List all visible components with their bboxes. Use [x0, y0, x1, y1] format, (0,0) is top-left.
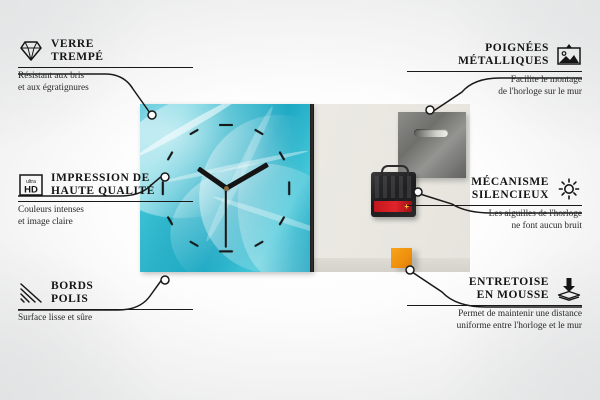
callout-header: ultra HD IMPRESSION DE HAUTE QUALITÉ: [18, 172, 193, 198]
callout-title: POIGNÉES MÉTALLIQUES: [458, 42, 549, 68]
clock-second-hand: [225, 188, 227, 248]
callout-header: BORDS POLIS: [18, 280, 193, 306]
callout-header: POIGNÉES MÉTALLIQUES: [407, 42, 582, 68]
callout-impression-haute-qualite[interactable]: ultra HD IMPRESSION DE HAUTE QUALITÉ Cou…: [18, 172, 193, 228]
callout-description: Couleurs intenses et image claire: [18, 205, 193, 228]
callout-title: MÉCANISME SILENCIEUX: [471, 176, 549, 202]
callout-rule: [18, 201, 193, 202]
clock-panel-edge: [310, 104, 314, 272]
callout-header: VERRE TREMPÉ: [18, 38, 193, 64]
clock-tick: [219, 250, 233, 252]
callout-title: BORDS POLIS: [51, 280, 93, 306]
callout-verre-trempe[interactable]: VERRE TREMPÉ Résistant aux bris et aux é…: [18, 38, 193, 94]
callout-rule: [407, 71, 582, 72]
callout-rule: [18, 309, 193, 310]
callout-rule: [407, 305, 582, 306]
hanger-keyhole-slot: [414, 129, 448, 137]
clock-center-hub: [224, 186, 229, 191]
callout-description: Facilite le montage de l'horloge sur le …: [407, 75, 582, 98]
framed-picture-hook-icon: [556, 43, 582, 67]
diamond-icon: [18, 39, 44, 63]
foam-spacer-block: [391, 248, 412, 268]
svg-text:HD: HD: [24, 185, 38, 196]
callout-description: Les aiguilles de l'horloge ne font aucun…: [407, 209, 582, 232]
callout-description: Surface lisse et sûre: [18, 313, 193, 324]
callout-entretoise-en-mousse[interactable]: ENTRETOISE EN MOUSSE Permet de maintenir…: [407, 276, 582, 332]
ultra-hd-icon: ultra HD: [18, 173, 44, 197]
callout-mecanisme-silencieux[interactable]: MÉCANISME SILENCIEUX Les aiguilles de l'…: [407, 176, 582, 232]
callout-title: IMPRESSION DE HAUTE QUALITÉ: [51, 172, 155, 198]
clock-tick: [288, 181, 290, 195]
callout-poignees-metalliques[interactable]: POIGNÉES MÉTALLIQUES Facilite le montage…: [407, 42, 582, 98]
callout-rule: [407, 205, 582, 206]
polished-edge-icon: [18, 281, 44, 305]
callout-title: VERRE TREMPÉ: [51, 38, 104, 64]
down-arrow-foam-icon: [556, 277, 582, 301]
callout-description: Résistant aux bris et aux égratignures: [18, 71, 193, 94]
callout-rule: [18, 67, 193, 68]
infographic-canvas: + VERRE: [0, 0, 600, 400]
gear-icon: [556, 177, 582, 201]
callout-header: ENTRETOISE EN MOUSSE: [407, 276, 582, 302]
callout-header: MÉCANISME SILENCIEUX: [407, 176, 582, 202]
callout-title: ENTRETOISE EN MOUSSE: [469, 276, 549, 302]
callout-description: Permet de maintenir une distance uniform…: [407, 309, 582, 332]
callout-bords-polis[interactable]: BORDS POLIS Surface lisse et sûre: [18, 280, 193, 325]
